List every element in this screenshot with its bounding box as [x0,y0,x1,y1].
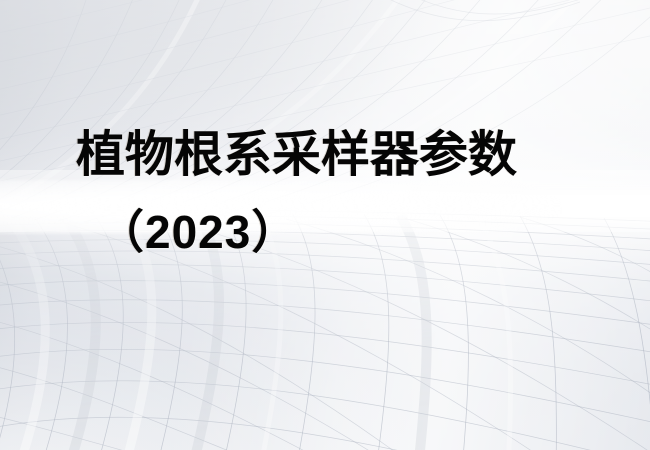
title-slide: 植物根系采样器参数 （2023） [0,0,650,450]
title-line-1: 植物根系采样器参数 [76,126,517,184]
slide-title-block: 植物根系采样器参数 （2023） [0,0,650,450]
title-line-2: （2023） [98,204,298,260]
